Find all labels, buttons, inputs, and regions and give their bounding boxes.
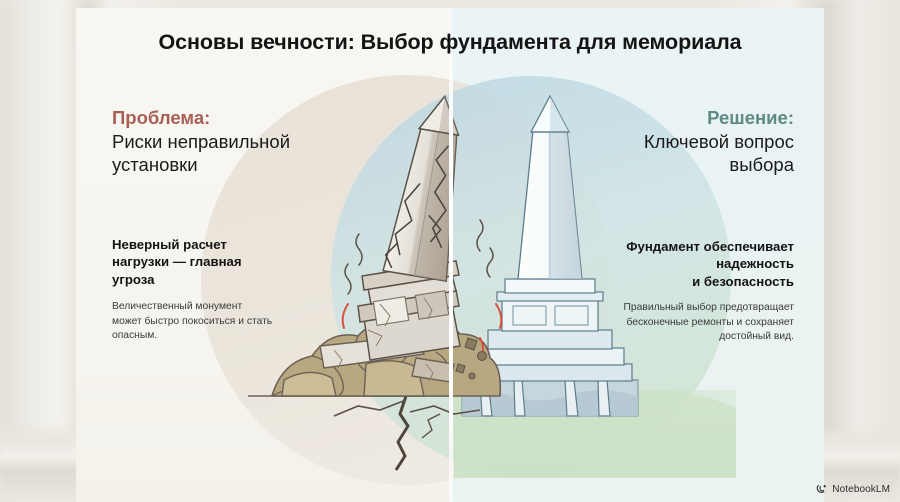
problem-subhead-line2: установки (112, 153, 357, 177)
solution-block-body-line3: достойный вид. (594, 330, 794, 345)
problem-detail-block: Неверный расчет нагрузки — главная угроз… (112, 236, 320, 344)
problem-block-title: Неверный расчет нагрузки — главная угроз… (112, 236, 320, 288)
solution-column-heading: Решение: Ключевой вопрос выбора (579, 106, 794, 177)
problem-block-title-line3: угроза (112, 271, 320, 288)
problem-block-body-line2: может быстро покоситься и стать (112, 315, 320, 330)
solution-eyebrow: Решение: (579, 106, 794, 130)
problem-eyebrow: Проблема: (112, 106, 357, 130)
problem-block-title-line2: нагрузки — главная (112, 253, 320, 270)
problem-block-title-line1: Неверный расчет (112, 236, 320, 253)
solution-block-title-line2: надежность (594, 255, 794, 272)
solution-block-body-line1: Правильный выбор предотвращает (594, 301, 794, 316)
slide-panel: Основы вечности: Выбор фундамента для ме… (76, 8, 824, 502)
solution-block-body-line2: бесконечные ремонты и сохраняет (594, 316, 794, 331)
notebooklm-watermark: NotebookLM (816, 483, 890, 495)
solution-detail-block: Фундамент обеспечивает надежность и безо… (594, 238, 794, 345)
solution-block-body: Правильный выбор предотвращает бесконечн… (594, 301, 794, 345)
solution-subhead-line1: Ключевой вопрос (579, 130, 794, 154)
solution-block-title: Фундамент обеспечивает надежность и безо… (594, 238, 794, 290)
page-title: Основы вечности: Выбор фундамента для ме… (76, 30, 824, 55)
problem-block-body-line1: Величественный монумент (112, 300, 320, 315)
watermark-label: NotebookLM (832, 484, 890, 495)
solution-block-title-line1: Фундамент обеспечивает (594, 238, 794, 255)
solution-block-title-line3: и безопасность (594, 273, 794, 290)
problem-block-body: Величественный монумент может быстро пок… (112, 300, 320, 344)
solution-subhead-line2: выбора (579, 153, 794, 177)
problem-column-heading: Проблема: Риски неправильной установки (112, 106, 357, 177)
center-divider (449, 8, 453, 502)
problem-block-body-line3: опасным. (112, 329, 320, 344)
notebook-spiral-icon (816, 483, 828, 495)
problem-subhead-line1: Риски неправильной (112, 130, 357, 154)
